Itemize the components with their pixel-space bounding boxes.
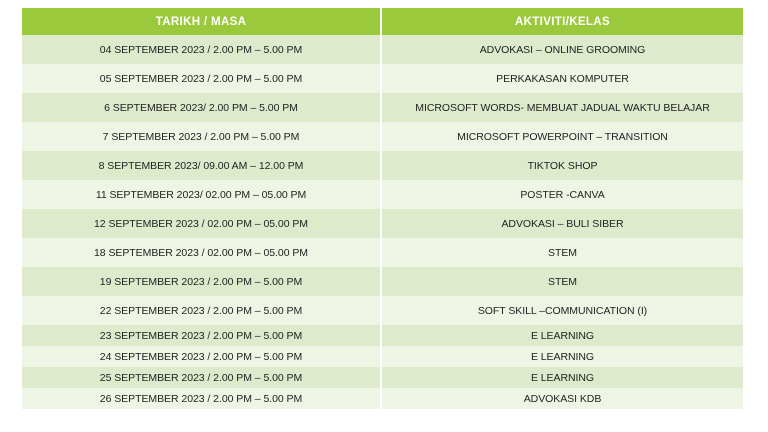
cell-activity: MICROSOFT POWERPOINT – TRANSITION xyxy=(381,122,743,151)
cell-activity: ADVOKASI – BULI SIBER xyxy=(381,209,743,238)
cell-activity: STEM xyxy=(381,267,743,296)
activity-schedule-table: TARIKH / MASA AKTIVITI/KELAS 04 SEPTEMBE… xyxy=(22,8,743,409)
cell-activity: ADVOKASI KDB xyxy=(381,388,743,409)
table-row: 04 SEPTEMBER 2023 / 2.00 PM – 5.00 PM AD… xyxy=(22,35,743,64)
cell-activity: TIKTOK SHOP xyxy=(381,151,743,180)
cell-date: 8 SEPTEMBER 2023/ 09.00 AM – 12.00 PM xyxy=(22,151,381,180)
cell-date: 25 SEPTEMBER 2023 / 2.00 PM – 5.00 PM xyxy=(22,367,381,388)
table-row: 12 SEPTEMBER 2023 / 02.00 PM – 05.00 PM … xyxy=(22,209,743,238)
cell-date: 23 SEPTEMBER 2023 / 2.00 PM – 5.00 PM xyxy=(22,325,381,346)
table-row: 19 SEPTEMBER 2023 / 2.00 PM – 5.00 PM ST… xyxy=(22,267,743,296)
table-row: 22 SEPTEMBER 2023 / 2.00 PM – 5.00 PM SO… xyxy=(22,296,743,325)
cell-date: 11 SEPTEMBER 2023/ 02.00 PM – 05.00 PM xyxy=(22,180,381,209)
cell-activity: ADVOKASI – ONLINE GROOMING xyxy=(381,35,743,64)
cell-date: 12 SEPTEMBER 2023 / 02.00 PM – 05.00 PM xyxy=(22,209,381,238)
cell-activity: E LEARNING xyxy=(381,325,743,346)
column-header-date: TARIKH / MASA xyxy=(22,8,381,35)
table-row: 05 SEPTEMBER 2023 / 2.00 PM – 5.00 PM PE… xyxy=(22,64,743,93)
table-header: TARIKH / MASA AKTIVITI/KELAS xyxy=(22,8,743,35)
table-row: 26 SEPTEMBER 2023 / 2.00 PM – 5.00 PM AD… xyxy=(22,388,743,409)
cell-activity: POSTER -CANVA xyxy=(381,180,743,209)
table-row: 7 SEPTEMBER 2023 / 2.00 PM – 5.00 PM MIC… xyxy=(22,122,743,151)
table-body: 04 SEPTEMBER 2023 / 2.00 PM – 5.00 PM AD… xyxy=(22,35,743,409)
cell-date: 22 SEPTEMBER 2023 / 2.00 PM – 5.00 PM xyxy=(22,296,381,325)
cell-date: 18 SEPTEMBER 2023 / 02.00 PM – 05.00 PM xyxy=(22,238,381,267)
cell-activity: E LEARNING xyxy=(381,346,743,367)
column-header-activity: AKTIVITI/KELAS xyxy=(381,8,743,35)
table-row: 18 SEPTEMBER 2023 / 02.00 PM – 05.00 PM … xyxy=(22,238,743,267)
table-row: 8 SEPTEMBER 2023/ 09.00 AM – 12.00 PM TI… xyxy=(22,151,743,180)
cell-activity: MICROSOFT WORDS- MEMBUAT JADUAL WAKTU BE… xyxy=(381,93,743,122)
table-row: 23 SEPTEMBER 2023 / 2.00 PM – 5.00 PM E … xyxy=(22,325,743,346)
cell-date: 05 SEPTEMBER 2023 / 2.00 PM – 5.00 PM xyxy=(22,64,381,93)
cell-activity: STEM xyxy=(381,238,743,267)
table-row: 11 SEPTEMBER 2023/ 02.00 PM – 05.00 PM P… xyxy=(22,180,743,209)
cell-activity: E LEARNING xyxy=(381,367,743,388)
cell-date: 24 SEPTEMBER 2023 / 2.00 PM – 5.00 PM xyxy=(22,346,381,367)
cell-date: 26 SEPTEMBER 2023 / 2.00 PM – 5.00 PM xyxy=(22,388,381,409)
table-row: 25 SEPTEMBER 2023 / 2.00 PM – 5.00 PM E … xyxy=(22,367,743,388)
schedule-container: TARIKH / MASA AKTIVITI/KELAS 04 SEPTEMBE… xyxy=(22,8,743,409)
cell-date: 19 SEPTEMBER 2023 / 2.00 PM – 5.00 PM xyxy=(22,267,381,296)
table-row: 24 SEPTEMBER 2023 / 2.00 PM – 5.00 PM E … xyxy=(22,346,743,367)
cell-date: 6 SEPTEMBER 2023/ 2.00 PM – 5.00 PM xyxy=(22,93,381,122)
table-row: 6 SEPTEMBER 2023/ 2.00 PM – 5.00 PM MICR… xyxy=(22,93,743,122)
table-header-row: TARIKH / MASA AKTIVITI/KELAS xyxy=(22,8,743,35)
cell-date: 7 SEPTEMBER 2023 / 2.00 PM – 5.00 PM xyxy=(22,122,381,151)
cell-activity: SOFT SKILL –COMMUNICATION (I) xyxy=(381,296,743,325)
cell-activity: PERKAKASAN KOMPUTER xyxy=(381,64,743,93)
cell-date: 04 SEPTEMBER 2023 / 2.00 PM – 5.00 PM xyxy=(22,35,381,64)
